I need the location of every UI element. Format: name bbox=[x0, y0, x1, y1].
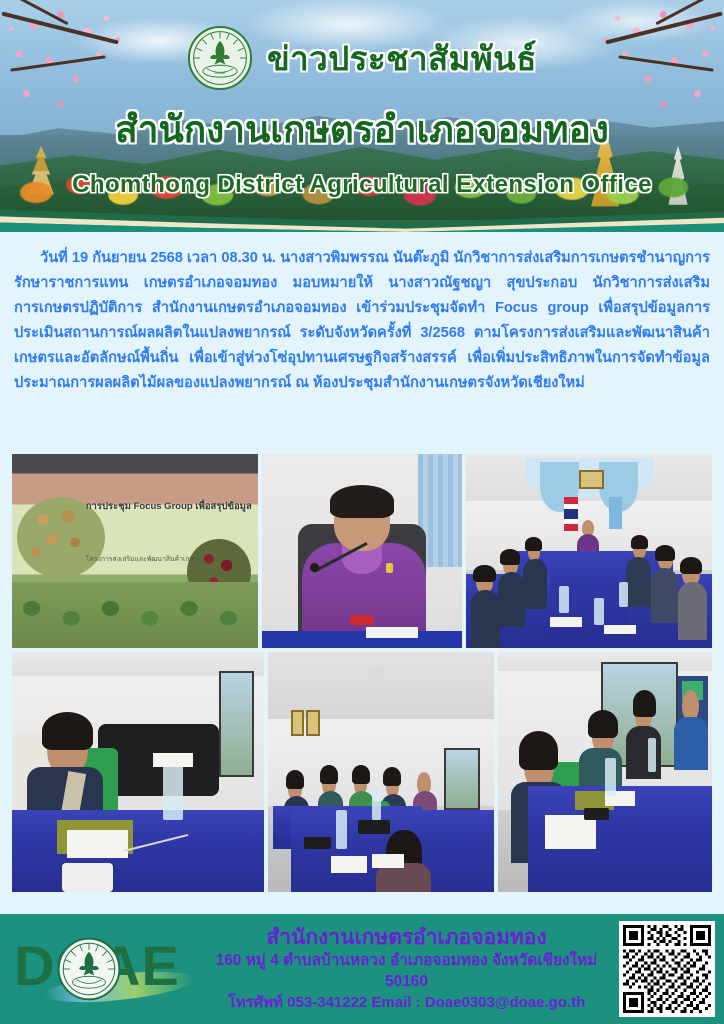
title-row: DOAE ข่าวประชาสัมพันธ์ bbox=[187, 22, 537, 94]
header-line2: สำนักงานเกษตรอำเภอจอมทอง bbox=[115, 100, 609, 159]
footer-address: 160 หมู่ 4 ตำบลบ้านหลวง อำเภอจอมทอง จังห… bbox=[198, 951, 615, 993]
header-banner: DOAE ข่าวประชาสัมพันธ์ สำนักงานเกษตรอำเภ… bbox=[0, 0, 724, 232]
header-line3: Chomthong District Agricultural Extensio… bbox=[72, 171, 652, 199]
photo-speaker-purple-shirt bbox=[262, 454, 462, 648]
photo-meeting-attendees bbox=[268, 652, 494, 892]
footer-bar: DOAE สำนักงานเกษตรอำเภอจอมทอง 160 หมู่ 4… bbox=[0, 914, 724, 1024]
photo-presentation-slide: การประชุม Focus Group เพื่อสรุปข้อมูล โค… bbox=[12, 454, 258, 648]
poster: DOAE ข่าวประชาสัมพันธ์ สำนักงานเกษตรอำเภ… bbox=[0, 0, 724, 1024]
footer-contact-block: สำนักงานเกษตรอำเภอจอมทอง 160 หมู่ 4 ตำบล… bbox=[198, 925, 619, 1013]
announcement-body: วันที่ 19 กันยายน 2568 เวลา 08.30 น. นาง… bbox=[0, 232, 724, 454]
slide-title-text: การประชุม Focus Group เพื่อสรุปข้อมูล bbox=[86, 501, 252, 514]
doae-garuda-emblem-icon: DOAE bbox=[187, 22, 253, 94]
photo-row-bottom bbox=[12, 652, 712, 892]
qr-code[interactable] bbox=[619, 921, 715, 1017]
photo-attendee-writing bbox=[498, 652, 712, 892]
header-line1: ข่าวประชาสัมพันธ์ bbox=[267, 32, 537, 85]
photo-row-top: การประชุม Focus Group เพื่อสรุปข้อมูล โค… bbox=[12, 454, 712, 648]
header-text-block: DOAE ข่าวประชาสัมพันธ์ สำนักงานเกษตรอำเภ… bbox=[0, 0, 724, 232]
photo-gallery: การประชุม Focus Group เพื่อสรุปข้อมูล โค… bbox=[0, 454, 724, 896]
footer-contact: โทรศัพท์ 053-341222 Email : Doae0303@doa… bbox=[198, 993, 615, 1013]
photo-meeting-room-wide bbox=[466, 454, 712, 648]
photo-participant-pointing bbox=[12, 652, 264, 892]
svg-text:DOAE: DOAE bbox=[214, 70, 226, 75]
doae-logo-emblem-icon bbox=[56, 936, 122, 1002]
doae-logo: DOAE bbox=[8, 930, 198, 1008]
slide-project-text: โครงการส่งเสริมและพัฒนาสินค้าเกษตร bbox=[86, 555, 202, 565]
footer-office-name: สำนักงานเกษตรอำเภอจอมทอง bbox=[198, 925, 615, 951]
